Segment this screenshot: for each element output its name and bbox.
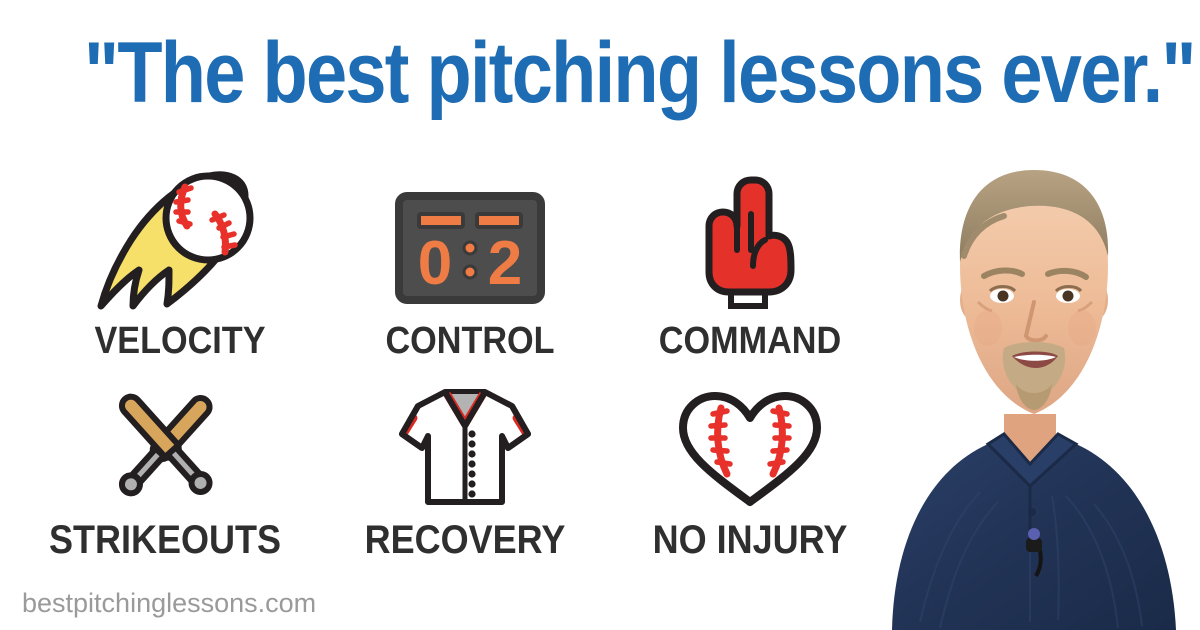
benefit-item-no-injury: NO INJURY	[600, 380, 900, 565]
scoreboard-away-digit: 2	[488, 229, 522, 298]
scoreboard-bar-right	[477, 214, 521, 227]
benefit-item-velocity: VELOCITY	[20, 170, 340, 360]
benefit-label-command: COMMAND	[615, 322, 885, 360]
baseball-heart-icon	[675, 392, 825, 510]
avatar	[880, 152, 1200, 630]
benefit-label-strikeouts: STRIKEOUTS	[35, 520, 296, 560]
benefit-item-recovery: RECOVERY	[325, 380, 605, 565]
page-title: "The best pitching lessons ever."	[84, 30, 1116, 116]
baseball-jersey-icon	[390, 382, 540, 510]
benefit-label-velocity: VELOCITY	[36, 322, 324, 360]
benefit-label-control: CONTROL	[344, 322, 596, 360]
benefit-item-control: 0 2 CONTROL	[330, 170, 610, 360]
scoreboard-home-digit: 0	[418, 229, 452, 298]
site-url[interactable]: bestpitchinglessons.com	[22, 588, 316, 619]
crossed-bats-icon	[90, 380, 240, 510]
eye-left	[998, 291, 1009, 302]
eye-right	[1063, 291, 1074, 302]
benefit-item-command: COMMAND	[600, 170, 900, 360]
benefit-item-strikeouts: STRIKEOUTS	[20, 380, 310, 565]
flaming-baseball-icon	[95, 170, 265, 315]
foam-finger-icon	[695, 174, 805, 314]
scoreboard-icon: 0 2	[395, 192, 545, 304]
benefit-label-recovery: RECOVERY	[339, 520, 591, 560]
scoreboard-bar-left	[419, 214, 463, 227]
poster-canvas: "The best pitching lessons ever."	[0, 0, 1200, 630]
benefit-label-no-injury: NO INJURY	[615, 520, 885, 560]
